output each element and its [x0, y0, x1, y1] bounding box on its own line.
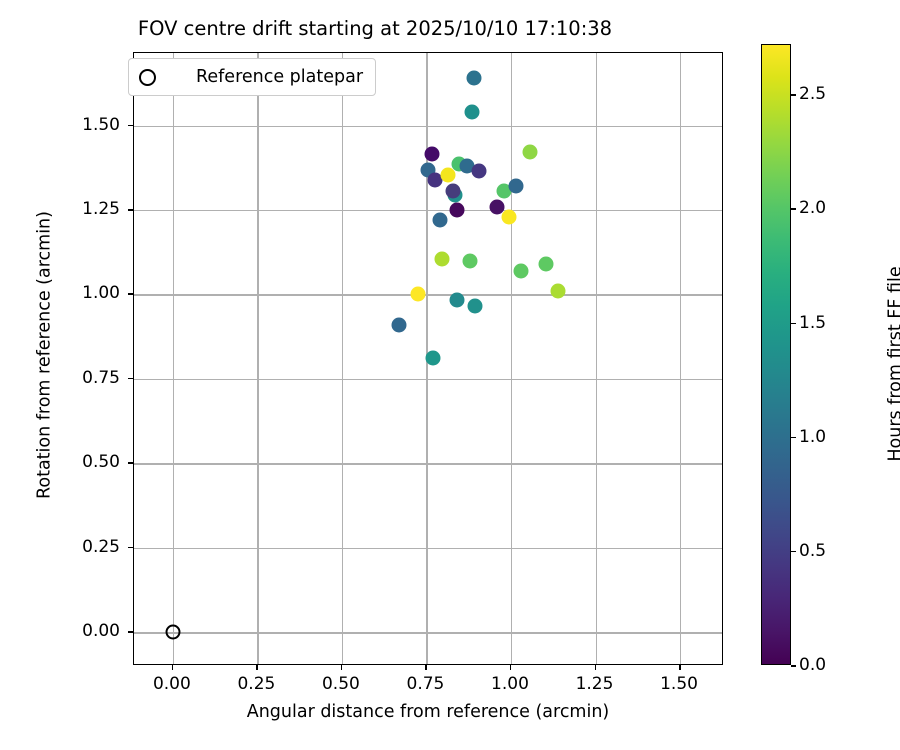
colorbar-tick-label: 0.5 — [799, 541, 826, 561]
gridline-horizontal — [134, 126, 722, 127]
plot-area — [133, 52, 723, 665]
colorbar-tick-label: 0.0 — [799, 655, 826, 675]
x-tick-label: 0.00 — [153, 674, 191, 694]
y-tick-mark — [128, 293, 133, 295]
gridline-vertical — [680, 53, 681, 664]
x-tick-label: 1.50 — [660, 674, 698, 694]
data-point — [471, 164, 486, 179]
x-tick-mark — [510, 665, 512, 670]
data-point — [465, 105, 480, 120]
data-point — [426, 350, 441, 365]
x-tick-label: 0.25 — [237, 674, 275, 694]
reference-platepar-point — [165, 625, 180, 640]
y-tick-label: 0.50 — [0, 452, 120, 472]
y-tick-label: 1.50 — [0, 115, 120, 135]
colorbar-tick-label: 2.0 — [799, 198, 826, 218]
data-point — [449, 203, 464, 218]
data-point — [539, 257, 554, 272]
y-tick-label: 1.25 — [0, 199, 120, 219]
colorbar-gradient — [762, 45, 790, 664]
legend: Reference platepar — [128, 58, 376, 96]
gridline-horizontal — [134, 548, 722, 549]
y-tick-label: 0.75 — [0, 368, 120, 388]
colorbar-tick-label: 2.5 — [799, 84, 826, 104]
y-tick-label: 1.00 — [0, 283, 120, 303]
y-tick-mark — [128, 547, 133, 549]
gridline-vertical — [342, 53, 343, 664]
y-tick-mark — [128, 125, 133, 127]
data-point — [466, 71, 481, 86]
x-tick-mark — [341, 665, 343, 670]
gridline-horizontal — [134, 632, 722, 633]
colorbar-tick-mark — [791, 551, 796, 553]
x-tick-mark — [256, 665, 258, 670]
x-tick-mark — [679, 665, 681, 670]
data-point — [468, 299, 483, 314]
gridline-vertical — [173, 53, 174, 664]
x-tick-label: 1.25 — [576, 674, 614, 694]
data-point — [514, 263, 529, 278]
reference-platepar-marker-icon — [139, 69, 156, 86]
data-point — [551, 284, 566, 299]
figure-canvas: FOV centre drift starting at 2025/10/10 … — [0, 0, 900, 750]
data-point — [509, 179, 524, 194]
colorbar-tick-label: 1.0 — [799, 427, 826, 447]
data-point — [449, 292, 464, 307]
data-point — [522, 144, 537, 159]
colorbar-label: Hours from first FF file — [886, 54, 900, 675]
gridline-horizontal — [134, 294, 722, 295]
data-point — [392, 317, 407, 332]
colorbar-tick-mark — [791, 94, 796, 96]
y-tick-mark — [128, 209, 133, 211]
x-tick-label: 0.50 — [322, 674, 360, 694]
x-axis-label: Angular distance from reference (arcmin) — [133, 702, 723, 722]
x-tick-mark — [172, 665, 174, 670]
data-point — [434, 252, 449, 267]
x-tick-label: 0.75 — [407, 674, 445, 694]
data-point — [441, 167, 456, 182]
data-point — [424, 147, 439, 162]
data-point — [432, 212, 447, 227]
y-tick-mark — [128, 631, 133, 633]
data-point — [502, 209, 517, 224]
colorbar-tick-mark — [791, 437, 796, 439]
colorbar-tick-label: 1.5 — [799, 313, 826, 333]
y-tick-label: 0.25 — [0, 537, 120, 557]
legend-item-label: Reference platepar — [196, 67, 363, 87]
colorbar-tick-mark — [791, 665, 796, 667]
y-axis-label: Rotation from reference (arcmin) — [35, 49, 55, 662]
x-tick-mark — [425, 665, 427, 670]
gridline-horizontal — [134, 379, 722, 380]
gridline-vertical — [596, 53, 597, 664]
page-title: FOV centre drift starting at 2025/10/10 … — [0, 17, 750, 40]
y-tick-mark — [128, 378, 133, 380]
x-tick-label: 1.00 — [491, 674, 529, 694]
colorbar-tick-mark — [791, 208, 796, 210]
x-tick-mark — [595, 665, 597, 670]
gridline-horizontal — [134, 210, 722, 211]
y-tick-label: 0.00 — [0, 621, 120, 641]
y-tick-mark — [128, 462, 133, 464]
gridline-vertical — [511, 53, 512, 664]
gridline-horizontal — [134, 463, 722, 464]
data-point — [463, 253, 478, 268]
data-point — [411, 287, 426, 302]
gridline-vertical — [257, 53, 258, 664]
data-point — [445, 184, 460, 199]
colorbar-tick-mark — [791, 323, 796, 325]
colorbar — [761, 44, 791, 665]
